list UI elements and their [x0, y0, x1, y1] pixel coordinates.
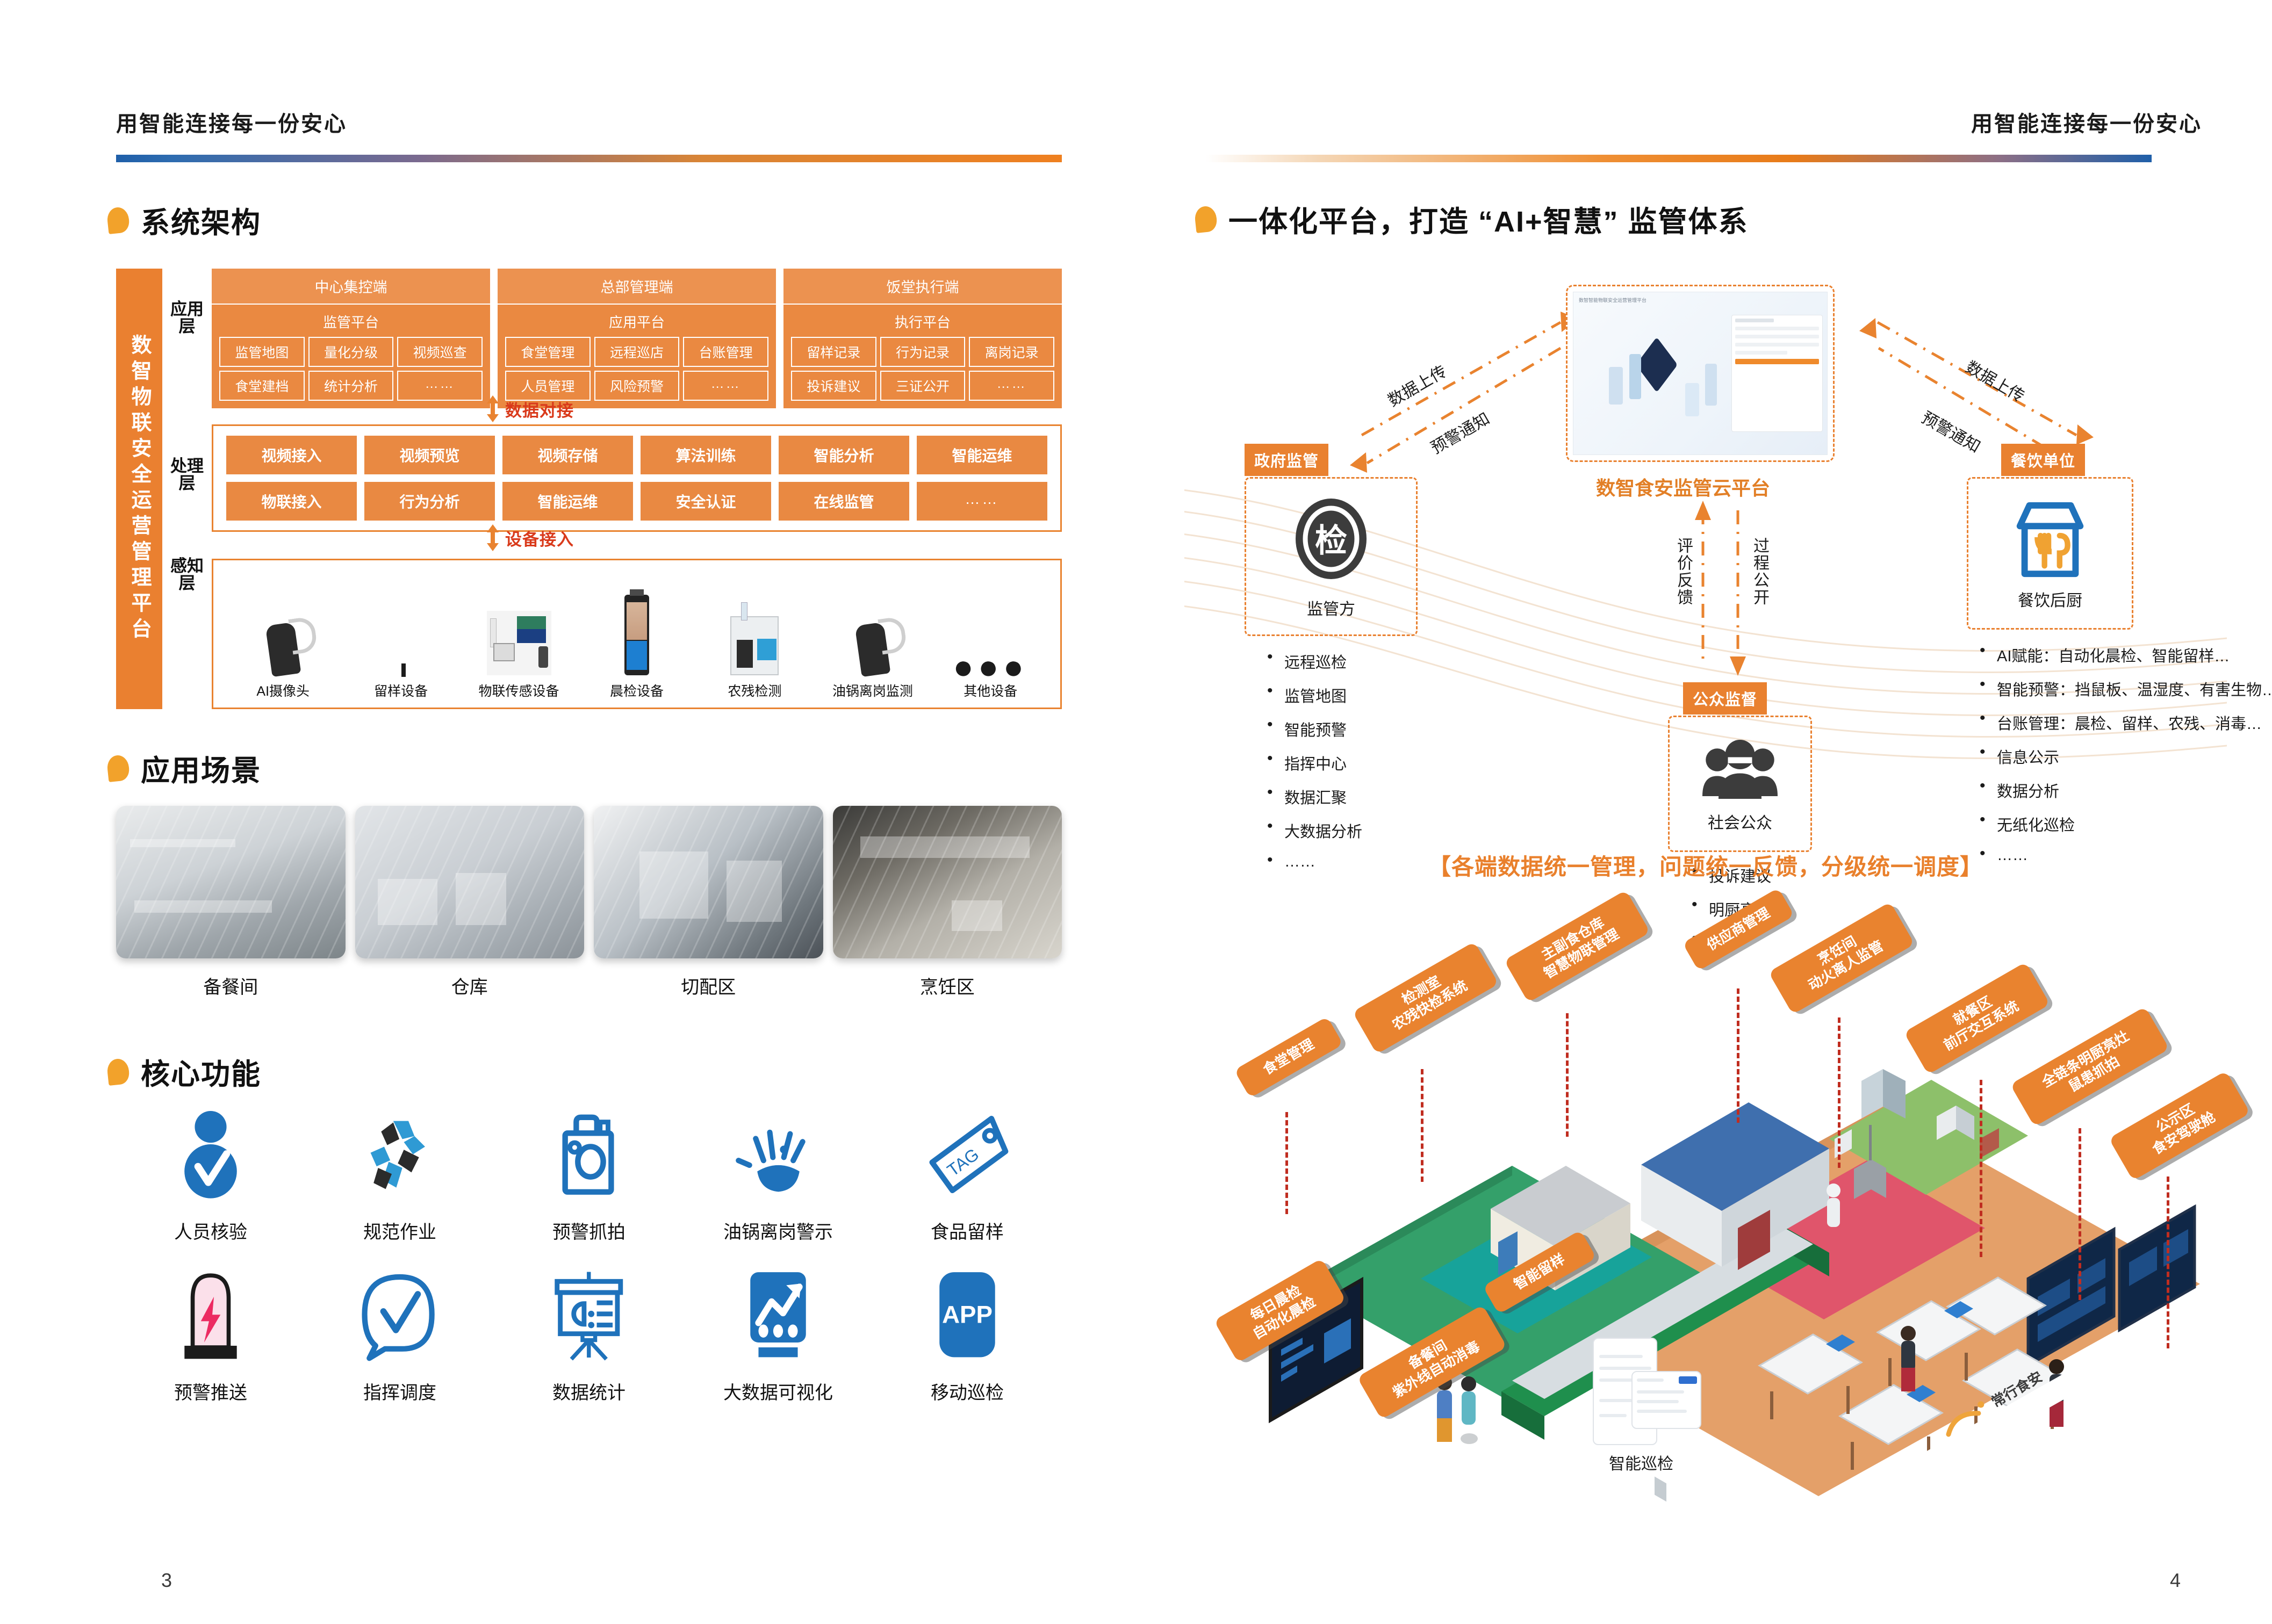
trend-arrow-icon [684, 1267, 873, 1364]
scenario-gallery: 备餐间 仓库 切配区 [116, 806, 1062, 999]
processing-cell[interactable]: 智能运维 [917, 436, 1047, 474]
cloud-platform-name: 数智食安监管云平台 [1596, 473, 1770, 501]
bullet-item: AI赋能：自动化晨检、智能留样… [1978, 644, 2272, 666]
architecture-spine-label: 数智物联安全运营管理平台 [129, 334, 149, 644]
section-title-core-functions: 核心功能 [107, 1050, 261, 1093]
bullet-list-restaurant: AI赋能：自动化晨检、智能留样… 智能预警：挡鼠板、温湿度、有害生物… 台账管理… [1978, 644, 2272, 876]
core-functions-row-1: 人员核验 规范作业 [116, 1107, 1062, 1244]
camera-icon [224, 595, 342, 675]
processing-cell[interactable]: 算法训练 [641, 436, 771, 474]
connector-device-access: 设备接入 [487, 524, 574, 551]
public-group-icon [1700, 734, 1780, 804]
recycle-icon [305, 1107, 494, 1203]
feature-cell[interactable]: 台账管理 [683, 337, 768, 367]
bullet-dot-icon [106, 754, 131, 782]
node-badge-government: 政府监管 [1245, 444, 1328, 476]
core-function-item[interactable]: 预警推送 [116, 1267, 305, 1404]
scenario-photo [594, 806, 823, 958]
core-function-label: 指挥调度 [305, 1378, 494, 1404]
page-tagline-left: 用智能连接每一份安心 [116, 106, 347, 138]
page-number-left: 3 [161, 1569, 172, 1592]
page-tagline-right: 用智能连接每一份安心 [1971, 106, 2202, 138]
scenario-item: 备餐间 [116, 806, 346, 999]
device-label: 晨检设备 [578, 681, 695, 700]
tag-icon: TAG [873, 1107, 1062, 1203]
bullet-item: 指挥中心 [1265, 752, 1362, 774]
column-head: 中心集控端 [212, 269, 490, 305]
sensing-device: ●●● 其他设备 [932, 595, 1049, 700]
architecture-spine: 数智物联安全运营管理平台 [116, 269, 162, 709]
core-function-item[interactable]: TAG 食品留样 [873, 1107, 1062, 1244]
feature-cell[interactable]: 量化分级 [308, 337, 394, 367]
isometric-floor-caption: 智能巡检 [1609, 1450, 1673, 1474]
column-head: 饭堂执行端 [783, 269, 1062, 305]
device-label: 留样设备 [342, 681, 459, 700]
feature-cell-more[interactable]: …… [969, 371, 1054, 401]
feature-cell[interactable]: 三证公开 [880, 371, 966, 401]
sensing-device: 物联传感设备 [460, 595, 578, 700]
feature-cell[interactable]: 视频巡查 [397, 337, 483, 367]
feature-cell[interactable]: 离岗记录 [969, 337, 1054, 367]
wok-fire-icon [684, 1107, 873, 1203]
feature-cell[interactable]: 监管地图 [219, 337, 305, 367]
feature-cell[interactable]: 投诉建议 [791, 371, 876, 401]
sensing-device: AI摄像头 [224, 595, 342, 700]
section-title-scenarios: 应用场景 [107, 747, 261, 789]
node-badge-public: 公众监督 [1683, 682, 1767, 714]
application-column: 中心集控端 监管平台 监管地图 量化分级 视频巡查 食堂建档 统计分析 …… [212, 269, 490, 408]
cloud-screenshot-title: 数智智能物联安全运营管理平台 [1579, 297, 1647, 304]
core-function-label: 食品留样 [873, 1217, 1062, 1244]
application-column: 饭堂执行端 执行平台 留样记录 行为记录 离岗记录 投诉建议 三证公开 …… [783, 269, 1062, 408]
scenario-caption: 备餐间 [116, 972, 346, 999]
core-function-label: 规范作业 [305, 1217, 494, 1244]
core-function-item[interactable]: 数据统计 [494, 1267, 684, 1404]
processing-cell[interactable]: 视频预览 [364, 436, 495, 474]
application-layer-row: 中心集控端 监管平台 监管地图 量化分级 视频巡查 食堂建档 统计分析 …… [212, 269, 1062, 408]
header-rule-left [116, 155, 1062, 162]
isometric-scene: 常行食安 智能巡检 [1168, 908, 2243, 1542]
core-function-item[interactable]: 指挥调度 [305, 1267, 494, 1404]
layer-label-processing: 处理层 [170, 458, 204, 492]
section-label-platform: 一体化平台，打造 “AI+智慧” 监管体系 [1228, 198, 1749, 240]
processing-cell[interactable]: 视频存储 [502, 436, 633, 474]
column-head: 总部管理端 [498, 269, 776, 305]
layer-label-application: 应用层 [170, 301, 204, 335]
ellipsis-icon: ●●● [932, 595, 1049, 675]
column-platform-label: 执行平台 [791, 309, 1054, 337]
feature-cell[interactable]: 风险预警 [594, 371, 680, 401]
device-label: AI摄像头 [224, 681, 342, 700]
lead-line [1737, 988, 1739, 1123]
feature-cell[interactable]: 行为记录 [880, 337, 966, 367]
processing-cell[interactable]: 安全认证 [641, 482, 771, 521]
feature-cell[interactable]: 统计分析 [308, 371, 394, 401]
flow-label-process-open: 过程公开 [1748, 537, 1771, 606]
scenario-photo [833, 806, 1062, 958]
layer-label-sensing: 感知层 [170, 558, 204, 592]
platform-diagram: 数智智能物联安全运营管理平台 数智食安监管云平台 数据上传 [1184, 258, 2227, 838]
bullet-list-government: 远程巡检 监管地图 智能预警 指挥中心 数据汇聚 大数据分析 …… [1265, 650, 1362, 882]
bullet-item: 智能预警 [1265, 718, 1362, 740]
cloud-platform-screenshot: 数智智能物联安全运营管理平台 [1573, 292, 1828, 455]
bullet-dot-icon [1194, 205, 1218, 233]
sampling-kiosk-icon [342, 595, 459, 675]
processing-cell[interactable]: 智能运维 [502, 482, 633, 521]
application-column: 总部管理端 应用平台 食堂管理 远程巡店 台账管理 人员管理 风险预警 …… [498, 269, 776, 408]
lead-line [1566, 1013, 1569, 1137]
scenario-caption: 切配区 [594, 972, 823, 999]
node-name-government: 监管方 [1307, 596, 1355, 619]
brochure-spread: 用智能连接每一份安心 系统架构 数智物联安全运营管理平台 应用层 处理层 感知层… [0, 0, 2272, 1624]
section-label-architecture: 系统架构 [141, 199, 261, 241]
node-box-public: 社会公众 [1668, 716, 1812, 852]
section-label-core-functions: 核心功能 [141, 1050, 261, 1093]
scenario-photo [116, 806, 346, 958]
device-label: 油锅离岗监测 [814, 681, 931, 700]
processing-layer-box: 视频接入 视频预览 视频存储 算法训练 智能分析 智能运维 物联接入 行为分析 … [212, 424, 1062, 532]
processing-cell-more[interactable]: …… [917, 482, 1047, 521]
processing-cell[interactable]: 物联接入 [226, 482, 357, 521]
feature-cell[interactable]: 食堂管理 [505, 337, 591, 367]
node-box-government: 检 监管方 [1245, 477, 1418, 636]
sensing-device: 油锅离岗监测 [814, 595, 931, 700]
camera-capture-icon [494, 1107, 684, 1203]
core-function-label: 数据统计 [494, 1378, 684, 1404]
svg-text:检: 检 [1315, 523, 1347, 559]
core-function-label: 预警抓拍 [494, 1217, 684, 1244]
feature-cell-more[interactable]: …… [683, 371, 768, 401]
isometric-illustration: 常行食安 [1168, 908, 2243, 1542]
feature-cell[interactable]: 远程巡店 [594, 337, 680, 367]
speech-check-icon [305, 1267, 494, 1364]
camera-icon [814, 595, 931, 675]
double-arrow-icon [487, 395, 499, 422]
connector-data-interface: 数据对接 [487, 395, 574, 422]
core-function-item[interactable]: 人员核验 [116, 1107, 305, 1244]
section-label-scenarios: 应用场景 [141, 747, 261, 789]
header-rule-right [1206, 155, 2152, 162]
device-label: 物联传感设备 [460, 681, 578, 700]
sensing-device: 留样设备 [342, 595, 459, 700]
lead-line [1421, 1069, 1423, 1182]
flow-label-alert-right: 预警通知 [1918, 405, 1986, 457]
core-function-label: 预警推送 [116, 1378, 305, 1404]
core-functions-row-2: 预警推送 指挥调度 [116, 1267, 1062, 1404]
feature-cell[interactable]: 食堂建档 [219, 371, 305, 401]
feature-cell[interactable]: 留样记录 [791, 337, 876, 367]
presentation-chart-icon [494, 1267, 684, 1364]
bullet-item: 信息公示 [1978, 745, 2272, 768]
section-title-platform: 一体化平台，打造 “AI+智慧” 监管体系 [1195, 198, 1749, 240]
bullet-item: 无纸化巡检 [1978, 813, 2272, 835]
processing-cell[interactable]: 行为分析 [364, 482, 495, 521]
mobile-detail-card [1631, 1371, 1701, 1429]
scenario-caption: 仓库 [355, 972, 585, 999]
bullet-item: 数据汇聚 [1265, 785, 1362, 808]
lead-line [1285, 1112, 1288, 1214]
lead-line [1838, 1017, 1840, 1168]
alarm-lamp-icon [116, 1267, 305, 1364]
core-function-item[interactable]: 油锅离岗警示 [684, 1107, 873, 1244]
core-function-label: 油锅离岗警示 [684, 1217, 873, 1244]
person-check-icon [116, 1107, 305, 1203]
login-form-preview [1731, 315, 1823, 431]
morning-check-icon [578, 595, 695, 675]
core-function-label: 人员核验 [116, 1217, 305, 1244]
device-label: 农残检测 [696, 681, 814, 700]
bullet-item: 数据分析 [1978, 779, 2272, 802]
core-function-label: 大数据可视化 [684, 1378, 873, 1404]
connector-label: 数据对接 [505, 397, 574, 421]
left-page: 用智能连接每一份安心 系统架构 数智物联安全运营管理平台 应用层 处理层 感知层… [0, 0, 1136, 1624]
node-name-public: 社会公众 [1708, 810, 1772, 833]
node-name-restaurant: 餐饮后厨 [2018, 587, 2082, 611]
inspection-seal-icon: 检 [1291, 494, 1371, 590]
scenario-item: 烹饪区 [833, 806, 1062, 999]
core-functions-grid: 人员核验 规范作业 [116, 1107, 1062, 1428]
lead-line [1980, 1080, 1982, 1257]
iot-sensor-icon [460, 595, 578, 675]
sensing-device: 农残检测 [696, 595, 814, 700]
flow-label-feedback: 评价反馈 [1671, 537, 1695, 606]
scenario-item: 仓库 [355, 806, 585, 999]
cloud-platform-card: 数智智能物联安全运营管理平台 [1566, 285, 1835, 462]
sensing-device: 晨检设备 [578, 595, 695, 700]
sensing-layer-box: AI摄像头 留样设备 物联传感设备 [212, 559, 1062, 709]
bullet-item: 远程巡检 [1265, 650, 1362, 673]
core-function-item[interactable]: 预警抓拍 [494, 1107, 684, 1244]
section-title-architecture: 系统架构 [107, 199, 261, 241]
lead-line [2167, 1177, 2169, 1348]
svg-text:APP: APP [942, 1301, 993, 1328]
right-page: 用智能连接每一份安心 一体化平台，打造 “AI+智慧” 监管体系 [1136, 0, 2272, 1624]
flow-label-upload-right: 数据上传 [1962, 354, 2030, 407]
bullet-item: 大数据分析 [1265, 819, 1362, 842]
bullet-item: 智能预警：挡鼠板、温湿度、有害生物… [1978, 677, 2272, 700]
core-function-item[interactable]: 规范作业 [305, 1107, 494, 1244]
core-function-item[interactable]: 大数据可视化 [684, 1267, 873, 1404]
lead-line [2079, 1128, 2081, 1300]
node-box-restaurant: 餐饮后厨 [1967, 477, 2133, 630]
bullet-dot-icon [106, 206, 131, 234]
node-badge-restaurant: 餐饮单位 [2001, 444, 2085, 476]
processing-cell[interactable]: 智能分析 [779, 436, 909, 474]
page-number-right: 4 [2170, 1569, 2181, 1592]
column-platform-label: 监管平台 [219, 309, 483, 337]
summary-banner: 【各端数据统一管理，问题统一反馈，分级统一调度】 [1184, 849, 2227, 882]
scenario-caption: 烹饪区 [833, 972, 1062, 999]
bullet-dot-icon [106, 1058, 131, 1086]
feature-cell-more[interactable]: …… [397, 371, 483, 401]
connector-label: 设备接入 [505, 526, 574, 550]
bullet-item: 监管地图 [1265, 684, 1362, 706]
scenario-item: 切配区 [594, 806, 823, 999]
core-function-item[interactable]: APP 移动巡检 [873, 1267, 1062, 1404]
processing-cell[interactable]: 视频接入 [226, 436, 357, 474]
processing-cell[interactable]: 在线监管 [779, 482, 909, 521]
restaurant-shop-icon [2010, 496, 2090, 582]
device-label: 其他设备 [932, 681, 1049, 700]
flow-label-upload-left: 数据上传 [1383, 358, 1450, 411]
app-icon: APP [873, 1267, 1062, 1364]
flow-label-alert-left: 预警通知 [1426, 406, 1493, 458]
bullet-item: 台账管理：晨检、留样、农残、消毒… [1978, 711, 2272, 734]
architecture-diagram: 数智物联安全运营管理平台 应用层 处理层 感知层 中心集控端 监管平台 监管地图… [116, 269, 1062, 709]
double-arrow-icon [487, 524, 499, 551]
column-platform-label: 应用平台 [505, 309, 768, 337]
core-function-label: 移动巡检 [873, 1378, 1062, 1404]
scenario-photo [355, 806, 585, 958]
pesticide-analyzer-icon [696, 595, 814, 675]
